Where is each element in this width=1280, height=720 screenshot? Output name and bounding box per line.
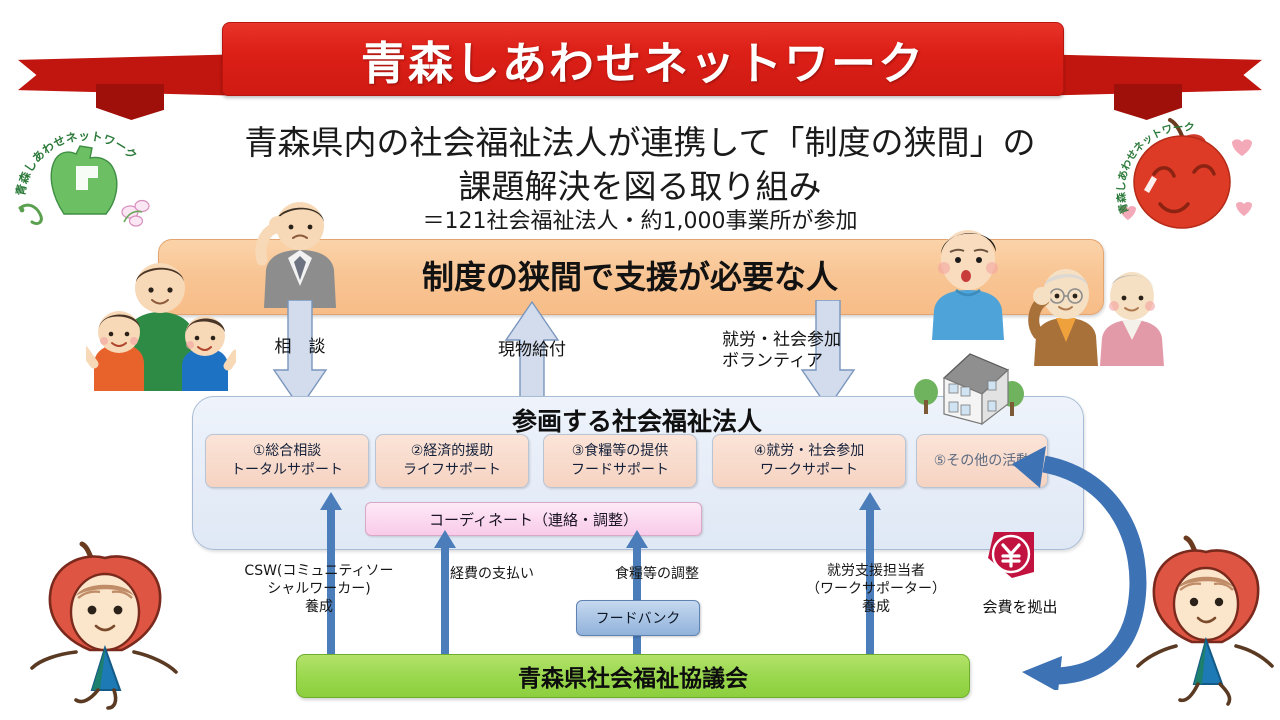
- service-box-1[interactable]: ①総合相談 トータルサポート: [205, 434, 369, 488]
- flow-arrow-employment-label-line1: 就労・社会参加: [722, 330, 892, 351]
- banner-fold-left: [96, 84, 164, 120]
- service-box-3-line2: フードサポート: [571, 461, 669, 480]
- infographic-canvas: 青森しあわせネットワーク 青森県内の社会福祉法人が連携して「制度の狭間」の 課題…: [0, 0, 1280, 720]
- support-label-worksupporter-line1: 就労支援担当者: [778, 562, 974, 580]
- target-bar-label: 制度の狭間で支援が必要な人: [158, 252, 1102, 298]
- support-label-worksupporter: 就労支援担当者 （ワークサポーター） 養成: [778, 562, 974, 617]
- support-arrow-expenses: [432, 528, 458, 662]
- support-label-food: 食糧等の調整: [577, 565, 737, 583]
- foodbank-box[interactable]: フードバンク: [576, 600, 700, 636]
- flow-arrow-employment-label-line2: ボランティア: [722, 351, 892, 372]
- support-label-worksupporter-line3: 養成: [778, 598, 974, 616]
- support-label-csw-line1: CSW(コミュニティソー: [204, 562, 434, 580]
- support-label-worksupporter-line2: （ワークサポーター）: [778, 580, 974, 598]
- service-box-1-line1: ①総合相談: [253, 442, 322, 461]
- flow-arrow-employment-label: 就労・社会参加 ボランティア: [722, 330, 892, 373]
- headline-line-3: ＝121社会福祉法人・約1,000事業所が参加: [0, 203, 1280, 235]
- service-box-4-line1: ④就労・社会参加: [754, 442, 865, 461]
- apple-hood-child-mascot-right: [1136, 532, 1276, 712]
- headline-line-2: 課題解決を図る取り組み: [0, 160, 1280, 208]
- title-banner: 青森しあわせネットワーク: [0, 8, 1280, 108]
- support-label-csw-line3: 養成: [204, 598, 434, 616]
- smiling-apple-character: 青森しあわせネットワーク: [1090, 112, 1270, 234]
- service-box-2-line2: ライフサポート: [403, 461, 501, 480]
- service-box-3[interactable]: ③食糧等の提供 フードサポート: [543, 434, 697, 488]
- service-box-4[interactable]: ④就労・社会参加 ワークサポート: [712, 434, 906, 488]
- support-label-csw-line2: シャルワーカー): [204, 580, 434, 598]
- aomori-network-logo: 青森しあわせネットワーク: [6, 122, 166, 230]
- flow-arrow-benefit-label: 現物給付: [472, 340, 592, 361]
- council-bar: 青森県社会福祉協議会: [296, 654, 970, 698]
- house-illustration: [908, 348, 1028, 426]
- banner-title: 青森しあわせネットワーク: [361, 27, 925, 92]
- service-box-3-line1: ③食糧等の提供: [572, 442, 669, 461]
- service-box-2[interactable]: ②経済的援助 ライフサポート: [375, 434, 529, 488]
- service-box-4-line2: ワークサポート: [760, 461, 858, 480]
- service-box-1-line2: トータルサポート: [231, 461, 343, 480]
- fee-label: 会費を拠出: [952, 596, 1088, 617]
- support-arrow-food: [624, 528, 650, 662]
- coordinate-box[interactable]: コーディネート（連絡・調整）: [365, 502, 702, 536]
- banner-plate: 青森しあわせネットワーク: [222, 22, 1064, 96]
- council-bar-label: 青森県社会福祉協議会: [518, 659, 748, 693]
- headline-line-1: 青森県内の社会福祉法人が連携して「制度の狭間」の: [0, 116, 1280, 164]
- support-label-csw: CSW(コミュニティソー シャルワーカー) 養成: [204, 562, 434, 617]
- yen-badge-icon: [984, 528, 1040, 584]
- service-box-2-line1: ②経済的援助: [411, 442, 494, 461]
- apple-hood-child-mascot-left: [30, 540, 180, 710]
- support-label-expenses: 経費の支払い: [412, 565, 572, 583]
- flow-arrow-consultation-label: 相 談: [240, 337, 360, 358]
